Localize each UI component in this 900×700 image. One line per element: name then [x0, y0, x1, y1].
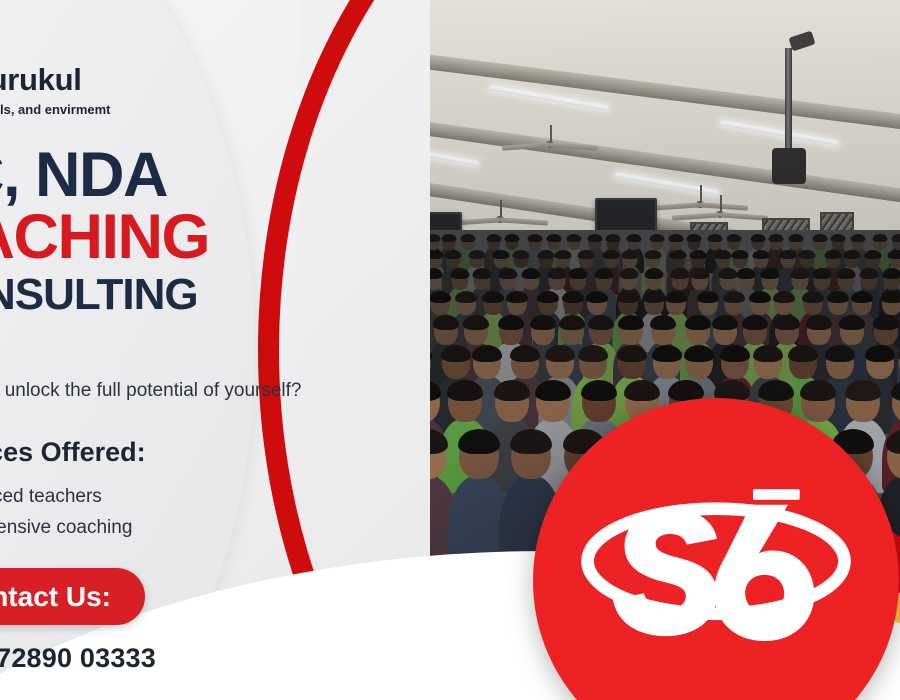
person-hair	[723, 291, 745, 303]
contact-us-label: Contact Us:	[0, 581, 111, 613]
person-hair	[802, 291, 824, 303]
person-hair	[753, 250, 770, 259]
person-hair	[737, 268, 756, 279]
person-hair	[881, 291, 900, 303]
person-hair	[684, 345, 714, 362]
person-hair	[845, 380, 881, 401]
list-item: Experienced teachers	[0, 482, 378, 513]
person-hair	[715, 250, 732, 259]
person-hair	[851, 291, 873, 303]
person-hair	[887, 250, 900, 259]
person-hair	[873, 315, 899, 330]
person-hair	[843, 250, 860, 259]
person-hair	[800, 380, 836, 401]
headline-block: SSC, NDA COACHING & CONSULTING	[0, 146, 438, 321]
person-hair	[788, 345, 818, 362]
projector-mount	[785, 48, 792, 158]
person-hair	[790, 268, 809, 279]
person-hair	[891, 380, 900, 401]
contact-us-badge: Contact Us:	[0, 568, 145, 625]
person-hair	[806, 315, 832, 330]
person-hair	[690, 250, 707, 259]
person-hair	[882, 268, 900, 279]
projector	[772, 148, 806, 184]
tube-light	[720, 120, 839, 146]
person-hair	[742, 315, 768, 330]
promo-banner: 360Gurukul Study materials, and envirmem…	[0, 0, 900, 700]
person-hair	[865, 345, 895, 362]
person-hair	[749, 291, 771, 303]
person-hair	[732, 250, 749, 259]
person-hair	[799, 250, 816, 259]
person-hair	[773, 291, 795, 303]
services-title: Services Offered:	[0, 437, 352, 468]
headline-line-2: COACHING	[0, 205, 438, 269]
person-hair	[886, 429, 900, 454]
person-hair	[836, 268, 855, 279]
text-content: 360Gurukul Study materials, and envirmem…	[0, 0, 440, 700]
subheadline: Are you ready to unlock the full potenti…	[0, 380, 460, 402]
person-hair	[719, 268, 738, 279]
person-hair	[812, 268, 831, 279]
person-hair	[720, 345, 750, 362]
brand-name: 360Gurukul	[0, 62, 334, 98]
person-hair	[753, 345, 783, 362]
person-hair	[774, 315, 800, 330]
person-hair	[712, 315, 738, 330]
services-list: Experienced teachers Comprehensive coach…	[0, 482, 378, 544]
person-hair	[824, 250, 841, 259]
phone-number[interactable]: +91 72890 03333	[0, 643, 342, 674]
person-hair	[685, 315, 711, 330]
360-orbit-logo-icon	[570, 469, 862, 669]
person-hair	[761, 268, 780, 279]
projector-arm	[788, 31, 815, 52]
person-hair	[691, 268, 710, 279]
headline-line-3: & CONSULTING	[0, 269, 438, 321]
person-hair	[839, 315, 865, 330]
list-item: Comprehensive coaching	[0, 513, 378, 544]
person-hair	[827, 291, 849, 303]
person-hair	[859, 268, 878, 279]
brand-tagline: Study materials, and envirmemt	[0, 102, 334, 117]
person-hair	[864, 250, 881, 259]
person-hair	[825, 345, 855, 362]
person-hair	[780, 250, 797, 259]
person-hair	[758, 380, 794, 401]
headline-line-1: SSC, NDA	[0, 146, 438, 205]
person-hair	[697, 291, 719, 303]
brand-block: 360Gurukul Study materials, and envirmem…	[0, 62, 334, 117]
